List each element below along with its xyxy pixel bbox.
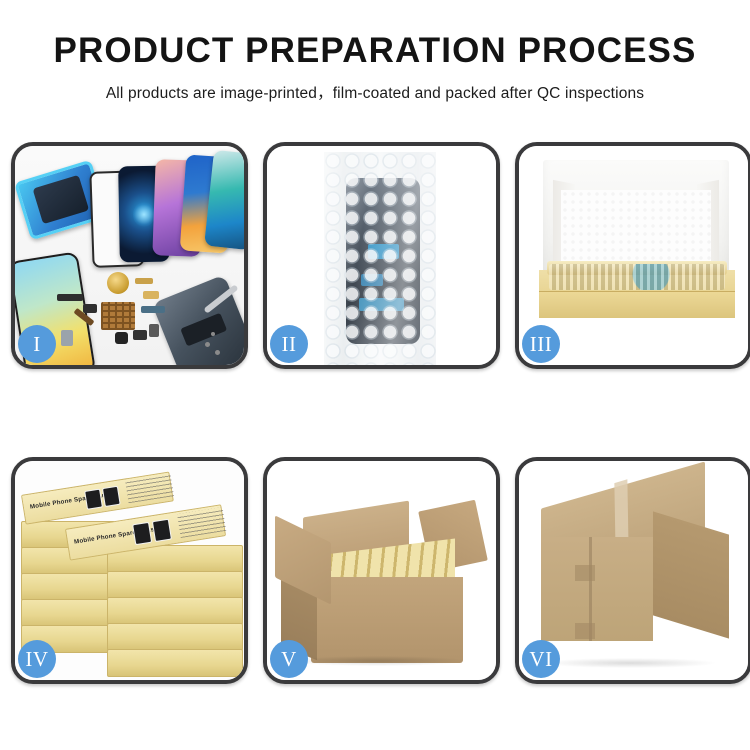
sealed-carton-front-face <box>541 537 653 641</box>
connector-part-1 <box>83 304 97 313</box>
retail-box-backleft-3 <box>21 573 115 601</box>
step-badge-5: V <box>270 640 308 678</box>
flex-cable-part-1 <box>57 294 83 301</box>
step-badge-3: III <box>522 325 560 363</box>
connector-part-3 <box>133 330 147 340</box>
bubble-wrap-sleeve <box>324 152 436 365</box>
sealed-carton-tab-2 <box>575 623 595 639</box>
retail-box-right-5 <box>107 649 243 677</box>
process-step-grid: I II <box>11 142 737 684</box>
flex-cable-part-2 <box>135 278 153 284</box>
process-step-panel-6: VI <box>515 457 750 684</box>
plastic-sheen <box>324 152 436 365</box>
carton-front-face <box>311 577 463 663</box>
process-step-panel-4: Mobile Phone Spare Parts Mobile Phone Sp… <box>11 457 248 684</box>
sealed-carton-tab-1 <box>575 565 595 581</box>
retail-box-screen-img-4 <box>152 519 172 542</box>
speaker-part <box>107 272 129 294</box>
page-header: PRODUCT PREPARATION PROCESS All products… <box>0 0 750 103</box>
page-title: PRODUCT PREPARATION PROCESS <box>0 30 750 72</box>
process-step-panel-1: I <box>11 142 248 369</box>
step-badge-2: II <box>270 325 308 363</box>
screw-part-2 <box>215 350 220 355</box>
retail-box-right-3 <box>107 597 243 625</box>
screw-part-1 <box>205 342 210 347</box>
retail-box-right-2 <box>107 571 243 599</box>
mailer-base-front <box>539 291 735 318</box>
step-badge-6: VI <box>522 640 560 678</box>
retail-box-screen-img-2 <box>102 486 121 507</box>
sealed-carton-shadow <box>545 658 715 668</box>
retail-box-screen-img-1 <box>84 489 103 510</box>
sim-tray-part <box>61 330 73 346</box>
process-step-panel-3: III <box>515 142 750 369</box>
flex-cable-part-3 <box>143 291 159 299</box>
connector-part-4 <box>149 324 159 337</box>
retail-box-screen-img-3 <box>132 522 152 545</box>
connector-part-2 <box>115 332 128 344</box>
chip-array-part <box>101 302 135 330</box>
retail-box-stack: Mobile Phone Spare Parts Mobile Phone Sp… <box>19 485 244 675</box>
screw-part-3 <box>211 332 215 336</box>
page-subtitle: All products are image-printed，film-coat… <box>0 81 750 103</box>
process-step-panel-2: II <box>263 142 500 369</box>
retail-box-backleft-4 <box>21 599 115 627</box>
sealed-carton-side-face <box>653 511 729 638</box>
retail-box-spec-lines-rear <box>125 474 174 503</box>
step-badge-4: IV <box>18 640 56 678</box>
retail-box-spec-lines-front <box>177 507 226 538</box>
carton-shadow <box>289 656 465 666</box>
retail-box-right-4 <box>107 623 243 651</box>
process-step-panel-5: V <box>263 457 500 684</box>
flex-cable-part-5 <box>141 306 165 313</box>
packed-screens <box>549 264 725 290</box>
step-badge-1: I <box>18 325 56 363</box>
